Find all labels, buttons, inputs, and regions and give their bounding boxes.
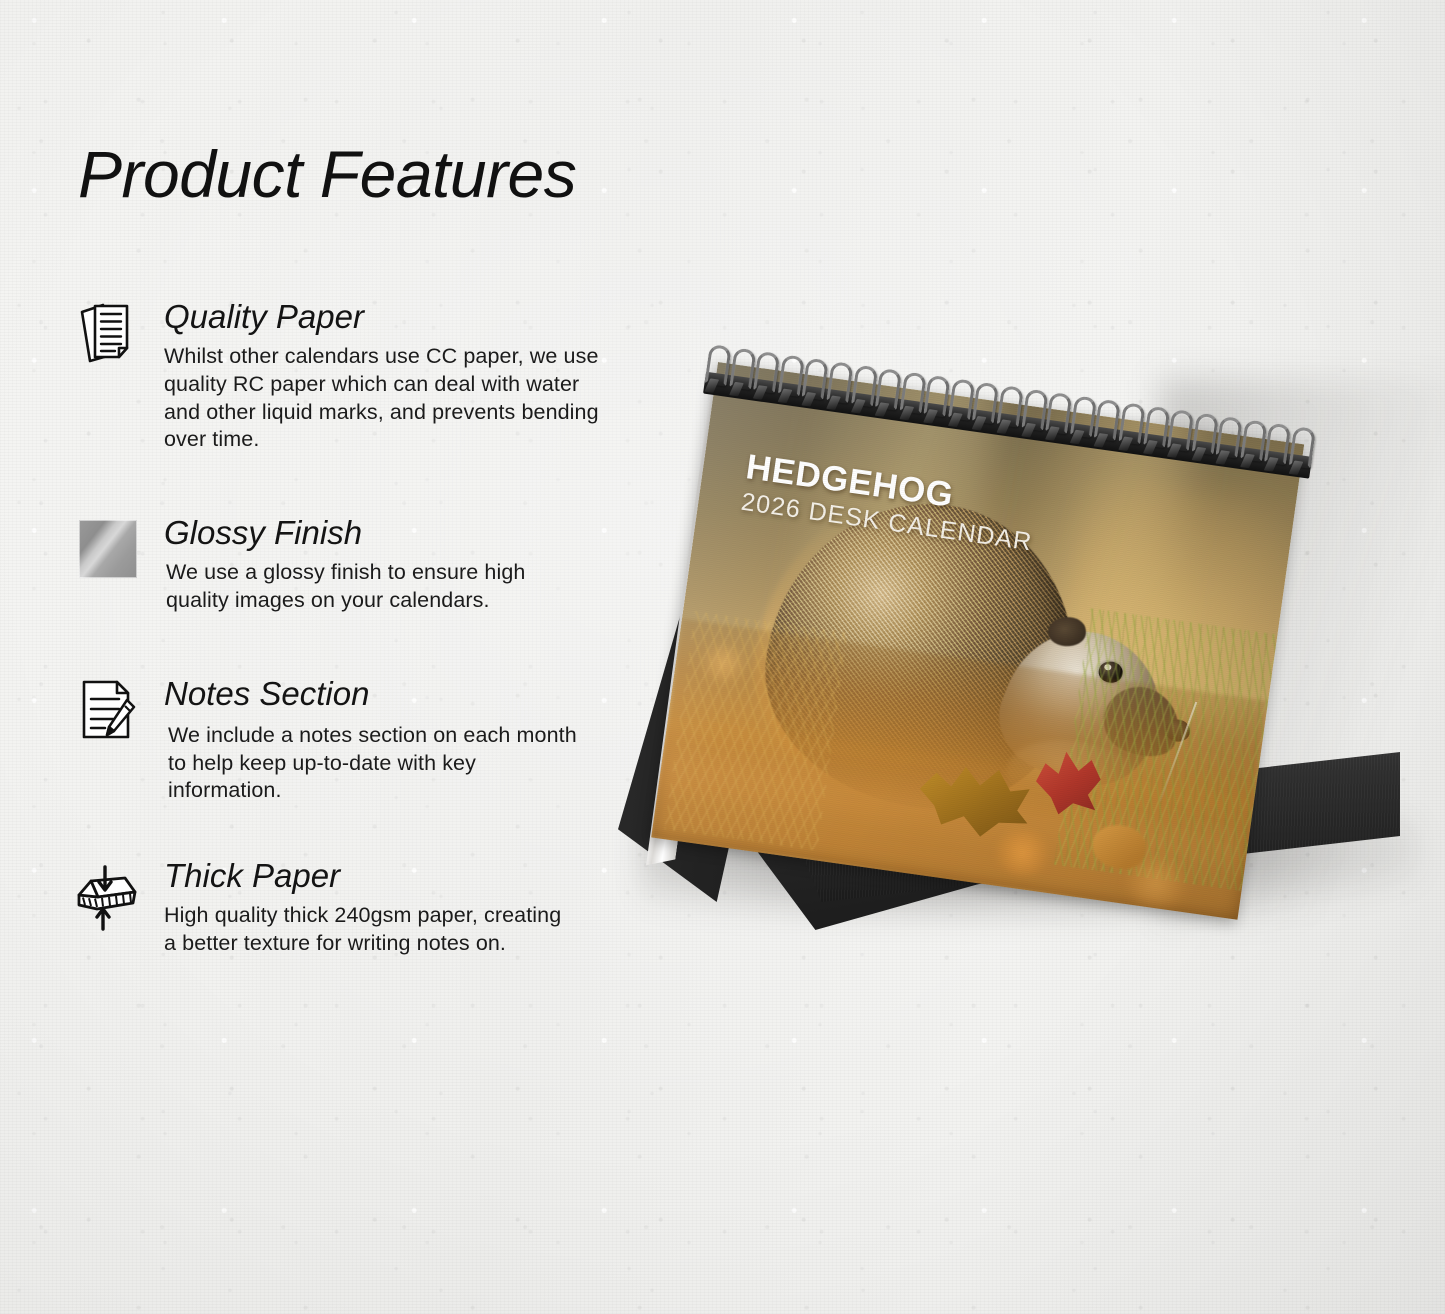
feature-list: Quality Paper Whilst other calendars use…	[72, 296, 632, 958]
feature-item-quality-paper: Quality Paper Whilst other calendars use…	[72, 300, 632, 454]
feature-description: We include a notes section on each month…	[164, 722, 584, 806]
stacked-paper-icon	[72, 300, 144, 372]
feature-title: Quality Paper	[164, 300, 632, 334]
note-pencil-icon	[72, 677, 144, 749]
page-title: Product Features	[78, 136, 576, 212]
feature-title: Notes Section	[164, 677, 632, 711]
feature-item-notes-section: Notes Section We include a notes section…	[72, 677, 632, 805]
feature-description: Whilst other calendars use CC paper, we …	[164, 343, 614, 455]
desk-calendar-mockup: HEDGEHOG 2026 DESK CALENDAR	[600, 320, 1420, 980]
feature-title: Thick Paper	[164, 859, 632, 893]
gloss-swatch-icon	[72, 520, 144, 592]
feature-title: Glossy Finish	[164, 516, 632, 550]
feature-item-thick-paper: Thick Paper High quality thick 240gsm pa…	[72, 859, 632, 958]
photo-grass-left	[664, 611, 847, 851]
paper-thickness-icon	[72, 865, 144, 937]
feature-description: High quality thick 240gsm paper, creatin…	[164, 902, 564, 958]
feature-item-glossy-finish: Glossy Finish We use a glossy finish to …	[72, 516, 632, 615]
feature-description: We use a glossy finish to ensure high qu…	[164, 559, 584, 615]
